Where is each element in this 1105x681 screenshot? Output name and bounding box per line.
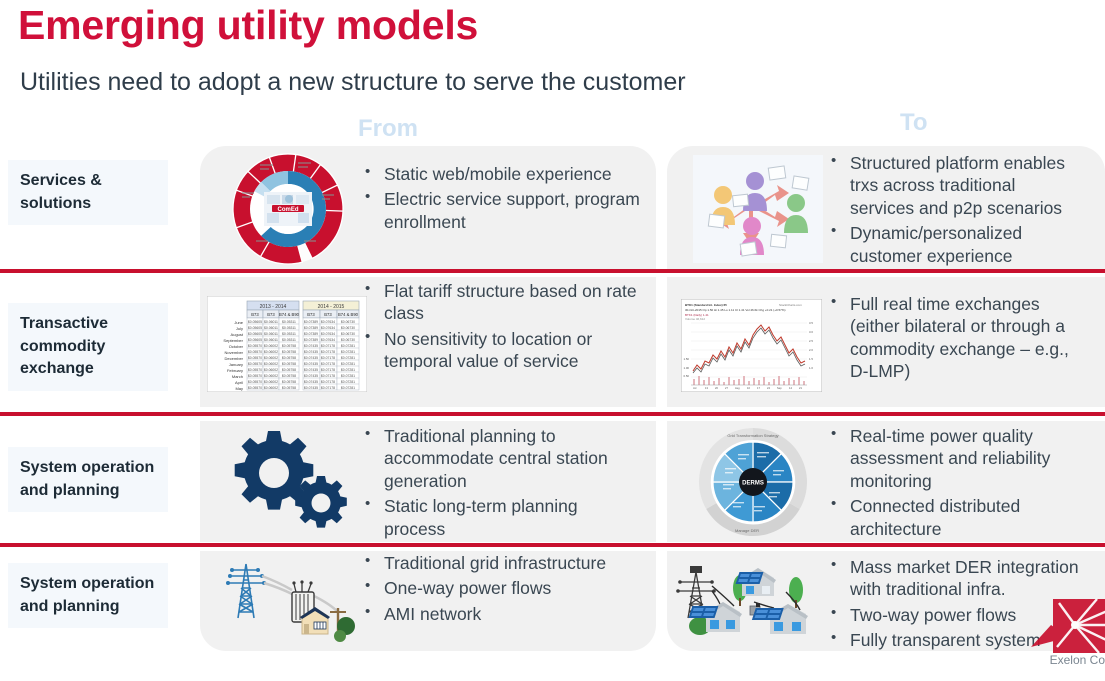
svg-text:Aug: Aug — [735, 386, 740, 390]
svg-text:$0.05570: $0.05570 — [248, 386, 262, 390]
transmission-tower-transformer-house-icon — [218, 556, 358, 648]
svg-text:$0.07389: $0.07389 — [304, 320, 318, 324]
svg-text:B73: B73 — [267, 312, 275, 317]
svg-text:$0.07435: $0.07435 — [304, 380, 318, 384]
derms-wheel-diagram-icon: DERMS Grid Transformation Strategy Manag… — [693, 425, 813, 539]
svg-text:$0.06002: $0.06002 — [264, 350, 278, 354]
svg-text:$0.07281: $0.07281 — [341, 350, 355, 354]
row-label-system-operation-planning-2: System operation and planning — [8, 563, 168, 628]
svg-text:$0.05311: $0.05311 — [282, 332, 296, 336]
svg-text:Jul: Jul — [693, 386, 697, 390]
bullet-item: Connected distributed architecture — [826, 495, 1086, 540]
svg-text:May: May — [235, 386, 243, 391]
svg-text:$0.07178: $0.07178 — [321, 362, 335, 366]
svg-text:$0.05311: $0.05311 — [282, 320, 296, 324]
bullet-item: Flat tariff structure based on rate clas… — [360, 280, 660, 325]
row-label-system-operation-planning-1: System operation and planning — [8, 447, 168, 512]
svg-text:$0.07178: $0.07178 — [321, 344, 335, 348]
bullet-item: Traditional grid infrastructure — [360, 552, 640, 574]
svg-text:February: February — [227, 368, 243, 373]
svg-text:$0.06011: $0.06011 — [264, 332, 278, 336]
svg-text:March: March — [232, 374, 243, 379]
svg-text:April: April — [235, 380, 243, 385]
bullet-item: Structured platform enables trxs across … — [826, 152, 1082, 219]
svg-text:January: January — [229, 362, 243, 367]
row-label-services-solutions: Services & solutions — [8, 160, 168, 225]
commodity-price-candlestick-chart-icon: BTK1 (Standard Int. Index) 65 StockChart… — [681, 299, 822, 392]
svg-text:$0.05605: $0.05605 — [248, 326, 262, 330]
svg-text:StockCharts.com: StockCharts.com — [779, 303, 802, 307]
svg-text:$0.07281: $0.07281 — [341, 344, 355, 348]
svg-text:$0.05758: $0.05758 — [282, 386, 296, 390]
bullets-to-row1: Structured platform enables trxs across … — [826, 152, 1082, 270]
svg-text:$0.07178: $0.07178 — [321, 350, 335, 354]
svg-text:$0.07435: $0.07435 — [304, 386, 318, 390]
comed-brand-label: ComEd — [278, 207, 299, 213]
svg-text:$0.07435: $0.07435 — [304, 374, 318, 378]
svg-text:$0.07281: $0.07281 — [341, 374, 355, 378]
svg-text:July: July — [236, 326, 243, 331]
bullet-item: Traditional planning to accommodate cent… — [360, 425, 638, 492]
derms-outer-bottom-label: Manage DER — [735, 528, 759, 533]
svg-text:$0.06011: $0.06011 — [264, 320, 278, 324]
svg-text:$0.05570: $0.05570 — [248, 344, 262, 348]
svg-text:$0.07435: $0.07435 — [304, 362, 318, 366]
svg-text:$0.05758: $0.05758 — [282, 374, 296, 378]
svg-text:$0.07281: $0.07281 — [341, 380, 355, 384]
bullet-item: Static long-term planning process — [360, 495, 638, 540]
svg-text:$0.06002: $0.06002 — [264, 368, 278, 372]
svg-text:$0.05570: $0.05570 — [248, 362, 262, 366]
svg-text:$0.06002: $0.06002 — [264, 344, 278, 348]
svg-text:B73: B73 — [324, 312, 332, 317]
gears-icon — [222, 428, 354, 533]
svg-text:3.0: 3.0 — [809, 330, 813, 334]
svg-text:$0.07281: $0.07281 — [341, 362, 355, 366]
svg-text:$0.07281: $0.07281 — [341, 368, 355, 372]
svg-text:$0.06011: $0.06011 — [264, 338, 278, 342]
svg-text:November: November — [225, 350, 244, 355]
svg-text:$0.05605: $0.05605 — [248, 332, 262, 336]
svg-text:$0.05311: $0.05311 — [282, 338, 296, 342]
bullet-item: One-way power flows — [360, 577, 640, 599]
bullet-item: Dynamic/personalized customer experience — [826, 222, 1082, 267]
bullets-to-row3: Real-time power quality assessment and r… — [826, 425, 1086, 543]
page-title: Emerging utility models — [18, 2, 478, 49]
bullets-from-row4: Traditional grid infrastructure One-way … — [360, 552, 640, 628]
svg-text:Sep: Sep — [777, 386, 782, 390]
svg-text:2.5: 2.5 — [809, 339, 813, 343]
bullets-to-row2: Full real time exchanges (either bilater… — [826, 293, 1086, 386]
svg-text:$0.07435: $0.07435 — [304, 344, 318, 348]
svg-text:2013 - 2014: 2013 - 2014 — [260, 304, 287, 310]
svg-text:$0.06002: $0.06002 — [264, 386, 278, 390]
svg-text:$0.06730: $0.06730 — [341, 338, 355, 342]
svg-text:2.0: 2.0 — [809, 348, 813, 352]
page-subtitle: Utilities need to adopt a new structure … — [20, 68, 686, 97]
derms-outer-top-label: Grid Transformation Strategy — [727, 433, 778, 438]
column-header-from: From — [358, 115, 418, 143]
svg-text:$0.07178: $0.07178 — [321, 374, 335, 378]
svg-text:$0.06730: $0.06730 — [341, 326, 355, 330]
exelon-watermark-text: Exelon Cor — [1050, 653, 1105, 667]
svg-text:$0.07178: $0.07178 — [321, 368, 335, 372]
svg-text:1.50: 1.50 — [684, 357, 690, 361]
row-divider-3 — [0, 543, 1105, 547]
derms-center-label: DERMS — [742, 480, 764, 486]
svg-text:3.5: 3.5 — [809, 321, 813, 325]
bullets-from-row3: Traditional planning to accommodate cent… — [360, 425, 638, 543]
svg-text:$0.07389: $0.07389 — [304, 338, 318, 342]
svg-text:$0.05758: $0.05758 — [282, 362, 296, 366]
svg-text:$0.07634: $0.07634 — [321, 338, 335, 342]
svg-text:1.00: 1.00 — [684, 366, 690, 370]
bullet-item: Real-time power quality assessment and r… — [826, 425, 1086, 492]
svg-text:$0.05758: $0.05758 — [282, 380, 296, 384]
svg-text:$0.05311: $0.05311 — [282, 326, 296, 330]
svg-text:$0.07634: $0.07634 — [321, 326, 335, 330]
svg-text:$0.07634: $0.07634 — [321, 320, 335, 324]
svg-text:1.0: 1.0 — [809, 366, 813, 370]
svg-text:B74 & B90: B74 & B90 — [279, 312, 300, 317]
svg-text:$0.07389: $0.07389 — [304, 326, 318, 330]
svg-text:B73: B73 — [307, 312, 315, 317]
p2p-people-network-icon — [693, 155, 823, 263]
bullet-item: Static web/mobile experience — [360, 163, 640, 185]
svg-text:September: September — [223, 338, 243, 343]
svg-text:August: August — [231, 332, 244, 337]
svg-text:$0.06730: $0.06730 — [341, 320, 355, 324]
bullets-from-row1: Static web/mobile experience Electric se… — [360, 163, 640, 236]
svg-text:$0.07634: $0.07634 — [321, 332, 335, 336]
svg-text:$0.06002: $0.06002 — [264, 356, 278, 360]
svg-text:$0.06002: $0.06002 — [264, 374, 278, 378]
svg-text:$0.07435: $0.07435 — [304, 356, 318, 360]
svg-text:$0.05605: $0.05605 — [248, 320, 262, 324]
svg-text:30-Oct-2015 Op 1.50 Hi 1.45 L: 30-Oct-2015 Op 1.50 Hi 1.45 Lo 1.11 Cl 1… — [685, 308, 786, 312]
svg-text:BTK1 (Standard Int. Index) 65: BTK1 (Standard Int. Index) 65 — [685, 303, 727, 307]
svg-text:$0.05570: $0.05570 — [248, 368, 262, 372]
svg-text:$0.05570: $0.05570 — [248, 350, 262, 354]
bullet-item: AMI network — [360, 603, 640, 625]
svg-text:B73: B73 — [251, 312, 259, 317]
svg-text:$0.07281: $0.07281 — [341, 386, 355, 390]
svg-text:2014 - 2015: 2014 - 2015 — [318, 304, 345, 310]
svg-text:$0.05758: $0.05758 — [282, 368, 296, 372]
svg-text:$0.06730: $0.06730 — [341, 332, 355, 336]
svg-text:B74 & B90: B74 & B90 — [338, 312, 359, 317]
bullet-item: No sensitivity to location or temporal v… — [360, 328, 660, 373]
svg-text:$0.07178: $0.07178 — [321, 380, 335, 384]
svg-text:$0.07178: $0.07178 — [321, 386, 335, 390]
bullet-item: Electric service support, program enroll… — [360, 188, 640, 233]
svg-text:$0.05605: $0.05605 — [248, 338, 262, 342]
flat-tariff-rate-table-icon: 2013 - 2014 2014 - 2015 B73B73B74 & B90 … — [207, 296, 367, 392]
svg-text:Volume 46,612: Volume 46,612 — [685, 317, 705, 321]
svg-text:$0.05570: $0.05570 — [248, 374, 262, 378]
svg-text:June: June — [234, 320, 243, 325]
row-divider-2 — [0, 412, 1105, 416]
svg-text:$0.06011: $0.06011 — [264, 326, 278, 330]
svg-text:December: December — [225, 356, 244, 361]
row-label-transactive-commodity-exchange: Transactive commodity exchange — [8, 303, 168, 391]
svg-text:$0.06002: $0.06002 — [264, 380, 278, 384]
solar-homes-der-network-icon — [670, 558, 825, 650]
svg-text:$0.05758: $0.05758 — [282, 356, 296, 360]
svg-text:1.5: 1.5 — [809, 357, 813, 361]
svg-text:$0.05570: $0.05570 — [248, 380, 262, 384]
svg-text:$0.05570: $0.05570 — [248, 356, 262, 360]
svg-text:$0.06002: $0.06002 — [264, 362, 278, 366]
svg-text:$0.07281: $0.07281 — [341, 356, 355, 360]
svg-text:$0.07389: $0.07389 — [304, 332, 318, 336]
slide-root: Emerging utility models Utilities need t… — [0, 0, 1105, 681]
svg-text:$0.05758: $0.05758 — [282, 350, 296, 354]
svg-text:0.50: 0.50 — [684, 374, 690, 378]
svg-text:$0.07435: $0.07435 — [304, 350, 318, 354]
bullet-item: Full real time exchanges (either bilater… — [826, 293, 1086, 383]
comed-customer-journey-wheel-icon: ComEd — [226, 152, 350, 266]
svg-text:$0.07178: $0.07178 — [321, 356, 335, 360]
bullets-from-row2: Flat tariff structure based on rate clas… — [360, 280, 660, 376]
svg-text:October: October — [229, 344, 244, 349]
svg-text:$0.05758: $0.05758 — [282, 344, 296, 348]
column-header-to: To — [900, 109, 928, 137]
svg-text:$0.07435: $0.07435 — [304, 368, 318, 372]
